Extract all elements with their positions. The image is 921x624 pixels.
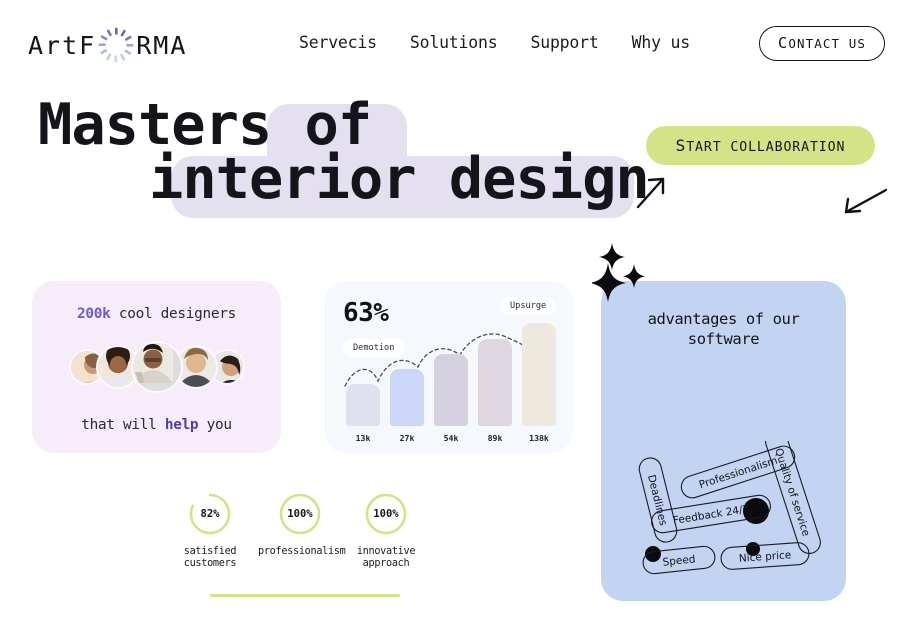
designer-avatars	[32, 341, 281, 393]
logo-text-right: RMA	[136, 31, 187, 60]
stat-satisfied-customers: 82% satisfied customers	[168, 492, 252, 570]
title-line-2: interior design	[38, 152, 638, 206]
designers-card: 200k cool designers that will help you	[32, 281, 281, 453]
designers-count: 200k	[77, 306, 110, 322]
chart-x-tick: 27k	[390, 433, 424, 443]
advantages-tag-cloud: Professionalism Quality of service Deadl…	[601, 441, 846, 601]
cta-cap: S	[676, 136, 687, 155]
help-strong: help	[165, 417, 198, 433]
stat-label: innovative approach	[344, 546, 428, 570]
help-post: you	[198, 417, 231, 433]
start-collaboration-button[interactable]: START COLLABORATION	[646, 126, 875, 165]
chart-bar	[346, 384, 380, 426]
chart-bar-column	[522, 323, 556, 426]
contact-us-button[interactable]: CONTACT US	[759, 26, 885, 61]
chart-x-tick: 54k	[434, 433, 468, 443]
main-nav: Servecis Solutions Support Why us	[299, 33, 690, 52]
chart-bar	[434, 354, 468, 426]
stat-innovative-approach: 100% innovative approach	[344, 492, 428, 570]
stat-value: 100%	[364, 492, 408, 536]
svg-text:Speed: Speed	[662, 553, 696, 568]
advantages-title: advantages of our software	[601, 309, 846, 349]
chart-bar-column	[390, 369, 424, 426]
avatar	[131, 341, 183, 393]
stats-row: 82% satisfied customers 100% professiona…	[168, 492, 418, 587]
chart-x-tick: 89k	[478, 433, 512, 443]
stat-label-line1: innovative	[357, 546, 415, 557]
nav-item-support[interactable]: Support	[530, 33, 598, 52]
brand-logo[interactable]: ArtF	[28, 24, 187, 66]
chart-x-tick: 13k	[346, 433, 380, 443]
contact-rest: ONTACT US	[788, 36, 866, 51]
stat-label-line1: satisfied	[184, 546, 237, 557]
designers-count-rest: cool designers	[111, 306, 236, 322]
chart-annotation-upsurge: Upsurge	[500, 297, 556, 315]
designers-count-line: 200k cool designers	[32, 306, 281, 322]
four-point-star-icon	[592, 243, 652, 303]
help-pre: that will	[81, 417, 165, 433]
stat-label: satisfied customers	[168, 546, 252, 570]
arrow-down-left-icon	[840, 188, 888, 216]
site-header: ArtF	[0, 0, 921, 88]
section-underline	[210, 594, 400, 597]
chart-bar-column	[478, 339, 512, 426]
chart-x-tick: 138k	[522, 433, 556, 443]
hero-section: Masters of interior design	[0, 98, 921, 238]
contact-cap: C	[778, 34, 788, 52]
chart-bar	[478, 339, 512, 426]
stat-value: 100%	[278, 492, 322, 536]
title-line-1: Masters of	[38, 98, 638, 152]
radial-burst-icon	[97, 26, 135, 64]
chart-bars	[346, 323, 556, 426]
stat-label: professionalism	[258, 546, 342, 558]
chart-x-tick-labels: 13k 27k 54k 89k 138k	[346, 433, 556, 443]
svg-text:Nice price: Nice price	[738, 549, 791, 565]
nav-item-solutions[interactable]: Solutions	[410, 33, 498, 52]
chart-bar	[390, 369, 424, 426]
stat-label-line1: professionalism	[258, 546, 346, 557]
nav-item-servecis[interactable]: Servecis	[299, 33, 377, 52]
tag-pill: Nice price	[720, 542, 809, 570]
progress-ring: 100%	[364, 492, 408, 536]
nav-item-why-us[interactable]: Why us	[632, 33, 690, 52]
chart-bar-column	[346, 384, 380, 426]
stat-value: 82%	[188, 492, 232, 536]
chart-bar	[522, 323, 556, 426]
progress-ring: 82%	[188, 492, 232, 536]
growth-chart-card: 63% Demotion Upsurge 13k 27k 54k 89k 138…	[324, 281, 573, 453]
chart-bar-column	[434, 354, 468, 426]
stat-label-line2: approach	[363, 558, 410, 569]
advantages-card: advantages of our software Professionali…	[601, 281, 846, 601]
designers-help-line: that will help you	[32, 417, 281, 433]
cta-rest: TART COLLABORATION	[686, 140, 845, 155]
svg-text:Deadlines: Deadlines	[645, 474, 669, 527]
stat-label-line2: customers	[184, 558, 237, 569]
progress-ring: 100%	[278, 492, 322, 536]
page-title: Masters of interior design	[38, 98, 638, 206]
logo-text-left: ArtF	[28, 31, 96, 60]
advantages-title-line2: software	[688, 330, 759, 348]
advantages-title-line1: advantages of our	[648, 310, 800, 328]
stat-professionalism: 100% professionalism	[258, 492, 342, 558]
landing-page: ArtF	[0, 0, 921, 624]
